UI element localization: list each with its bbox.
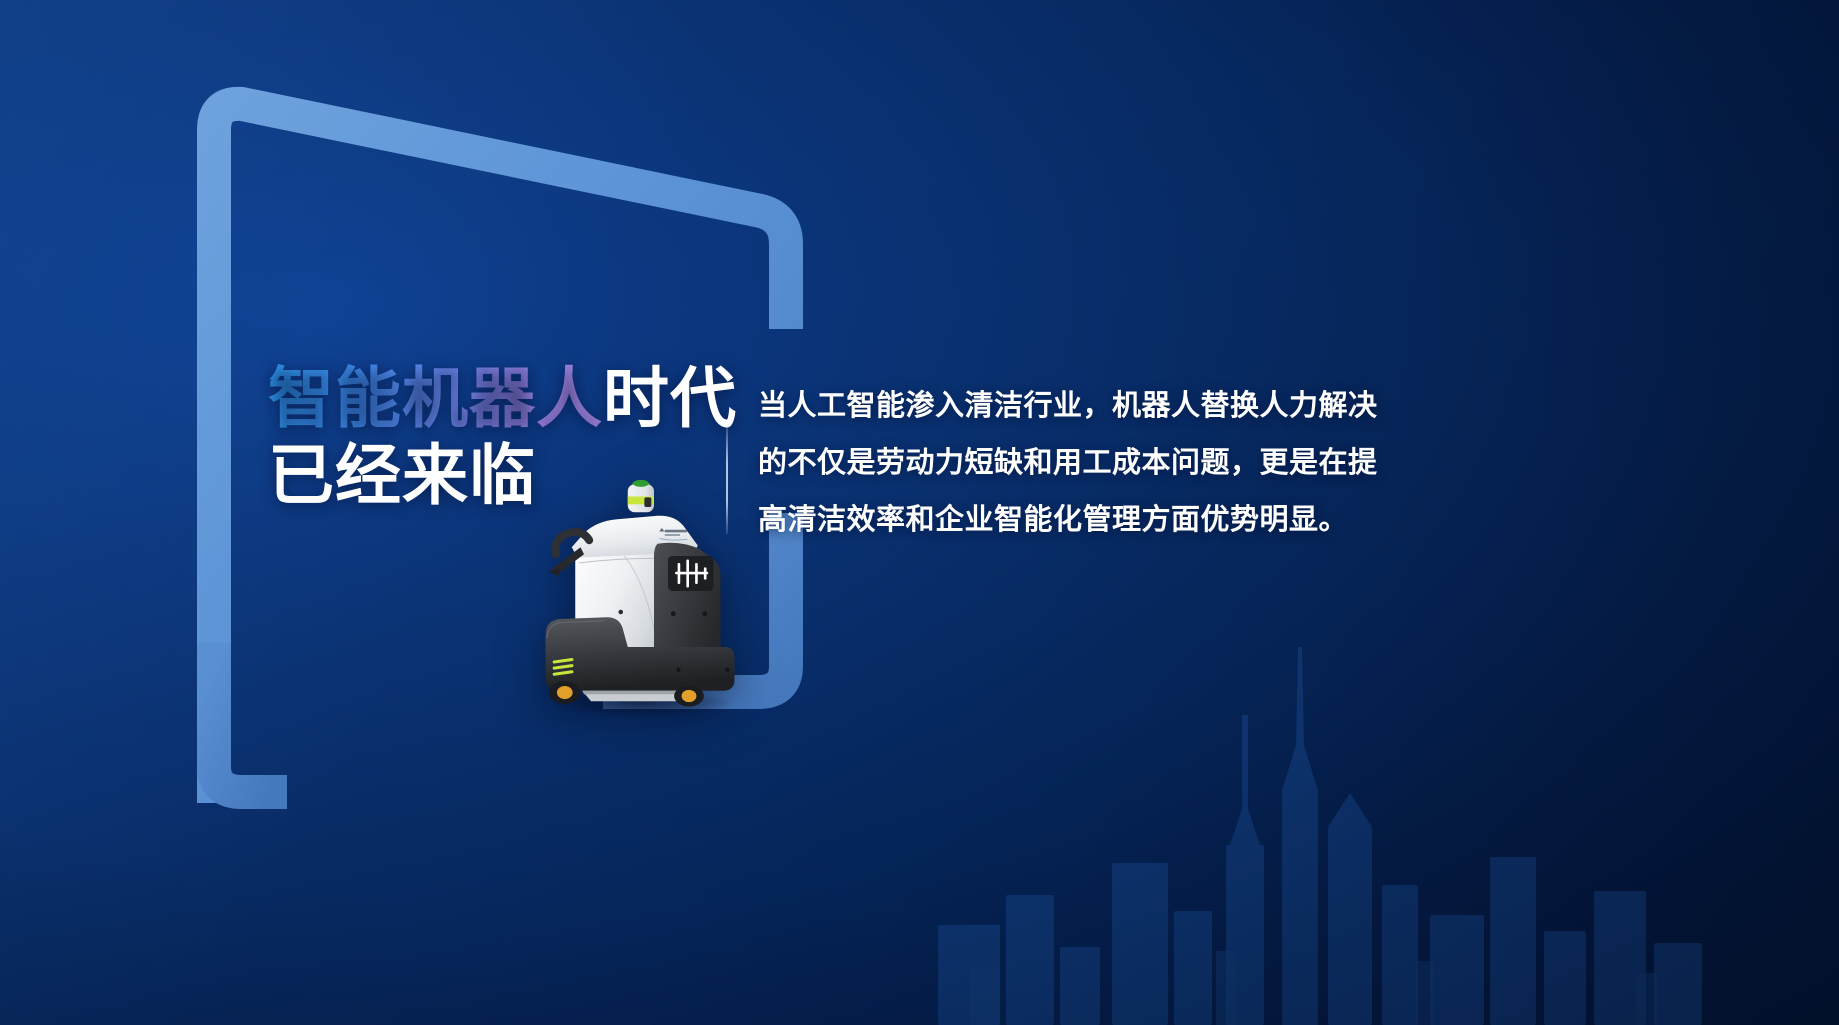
- accent-stripes: [552, 658, 573, 676]
- banner-canvas: 智能机器人时代 已经来临 当人工智能渗入清洁行业，机器人替换人力解决 的不仅是劳…: [0, 0, 1839, 1025]
- city-skyline-silhouette: [930, 595, 1710, 1025]
- headline-gradient-text: 智能机器人: [268, 361, 603, 435]
- body-copy: 当人工智能渗入清洁行业，机器人替换人力解决 的不仅是劳动力短缺和用工成本问题，更…: [758, 378, 1398, 549]
- body-copy-line: 的不仅是劳动力短缺和用工成本问题，更是在提: [758, 435, 1398, 492]
- cleaning-robot-image: [525, 472, 755, 717]
- headline-line-1: 智能机器人时代: [268, 366, 738, 431]
- body-copy-line: 当人工智能渗入清洁行业，机器人替换人力解决: [758, 378, 1398, 435]
- body-copy-line: 高清洁效率和企业智能化管理方面优势明显。: [758, 492, 1398, 549]
- headline-white-text: 时代: [603, 361, 737, 435]
- lidar-sensor-tower: [628, 480, 654, 512]
